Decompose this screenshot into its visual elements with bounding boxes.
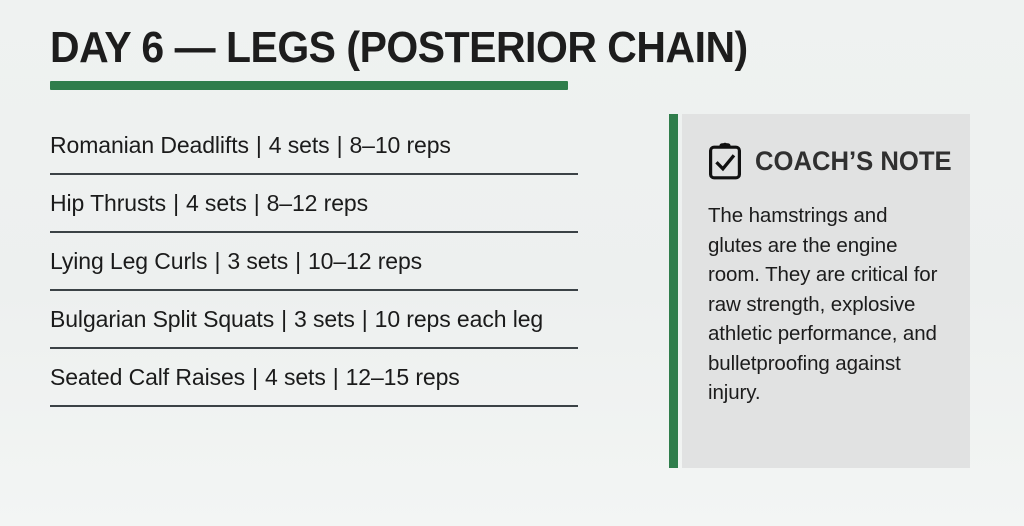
note-header: COACH’S NOTE <box>708 142 946 180</box>
field-separator: | <box>274 306 294 332</box>
exercise-name: Hip Thrusts <box>50 190 166 216</box>
field-separator: | <box>330 132 350 158</box>
list-item: Romanian Deadlifts|4 sets|8–10 reps <box>50 117 578 175</box>
list-item: Bulgarian Split Squats|3 sets|10 reps ea… <box>50 291 578 349</box>
exercise-sets: 4 sets <box>265 364 326 390</box>
exercise-label: Bulgarian Split Squats|3 sets|10 reps ea… <box>50 306 543 333</box>
exercise-reps: 8–12 reps <box>267 190 368 216</box>
exercise-sets: 3 sets <box>227 248 288 274</box>
field-separator: | <box>288 248 308 274</box>
exercise-sets: 3 sets <box>294 306 355 332</box>
clipboard-check-icon <box>708 142 742 180</box>
exercise-name: Lying Leg Curls <box>50 248 207 274</box>
slide-root: DAY 6 — LEGS (POSTERIOR CHAIN) Romanian … <box>0 0 1024 526</box>
note-title: COACH’S NOTE <box>755 147 952 175</box>
exercise-reps: 8–10 reps <box>349 132 450 158</box>
field-separator: | <box>245 364 265 390</box>
exercise-label: Hip Thrusts|4 sets|8–12 reps <box>50 190 368 217</box>
exercise-name: Bulgarian Split Squats <box>50 306 274 332</box>
note-body-text: The hamstrings and glutes are the engine… <box>708 201 946 408</box>
exercise-label: Romanian Deadlifts|4 sets|8–10 reps <box>50 132 451 159</box>
note-card: COACH’S NOTE The hamstrings and glutes a… <box>682 114 970 468</box>
field-separator: | <box>249 132 269 158</box>
field-separator: | <box>326 364 346 390</box>
list-item: Hip Thrusts|4 sets|8–12 reps <box>50 175 578 233</box>
exercise-reps: 10–12 reps <box>308 248 422 274</box>
coachs-note-panel: COACH’S NOTE The hamstrings and glutes a… <box>669 114 970 468</box>
note-accent-bar <box>669 114 678 468</box>
field-separator: | <box>166 190 186 216</box>
exercise-label: Seated Calf Raises|4 sets|12–15 reps <box>50 364 460 391</box>
workout-section: DAY 6 — LEGS (POSTERIOR CHAIN) Romanian … <box>50 24 580 423</box>
exercise-name: Seated Calf Raises <box>50 364 245 390</box>
field-separator: | <box>355 306 375 332</box>
field-separator: | <box>247 190 267 216</box>
exercise-sets: 4 sets <box>269 132 330 158</box>
list-item: Seated Calf Raises|4 sets|12–15 reps <box>50 349 578 407</box>
exercise-name: Romanian Deadlifts <box>50 132 249 158</box>
page-title: DAY 6 — LEGS (POSTERIOR CHAIN) <box>50 24 543 72</box>
exercise-list: Romanian Deadlifts|4 sets|8–10 reps Hip … <box>50 117 580 407</box>
title-underline <box>50 81 568 90</box>
exercise-reps: 12–15 reps <box>346 364 460 390</box>
field-separator: | <box>207 248 227 274</box>
exercise-reps: 10 reps each leg <box>375 306 543 332</box>
list-item: Lying Leg Curls|3 sets|10–12 reps <box>50 233 578 291</box>
exercise-label: Lying Leg Curls|3 sets|10–12 reps <box>50 248 422 275</box>
exercise-sets: 4 sets <box>186 190 247 216</box>
